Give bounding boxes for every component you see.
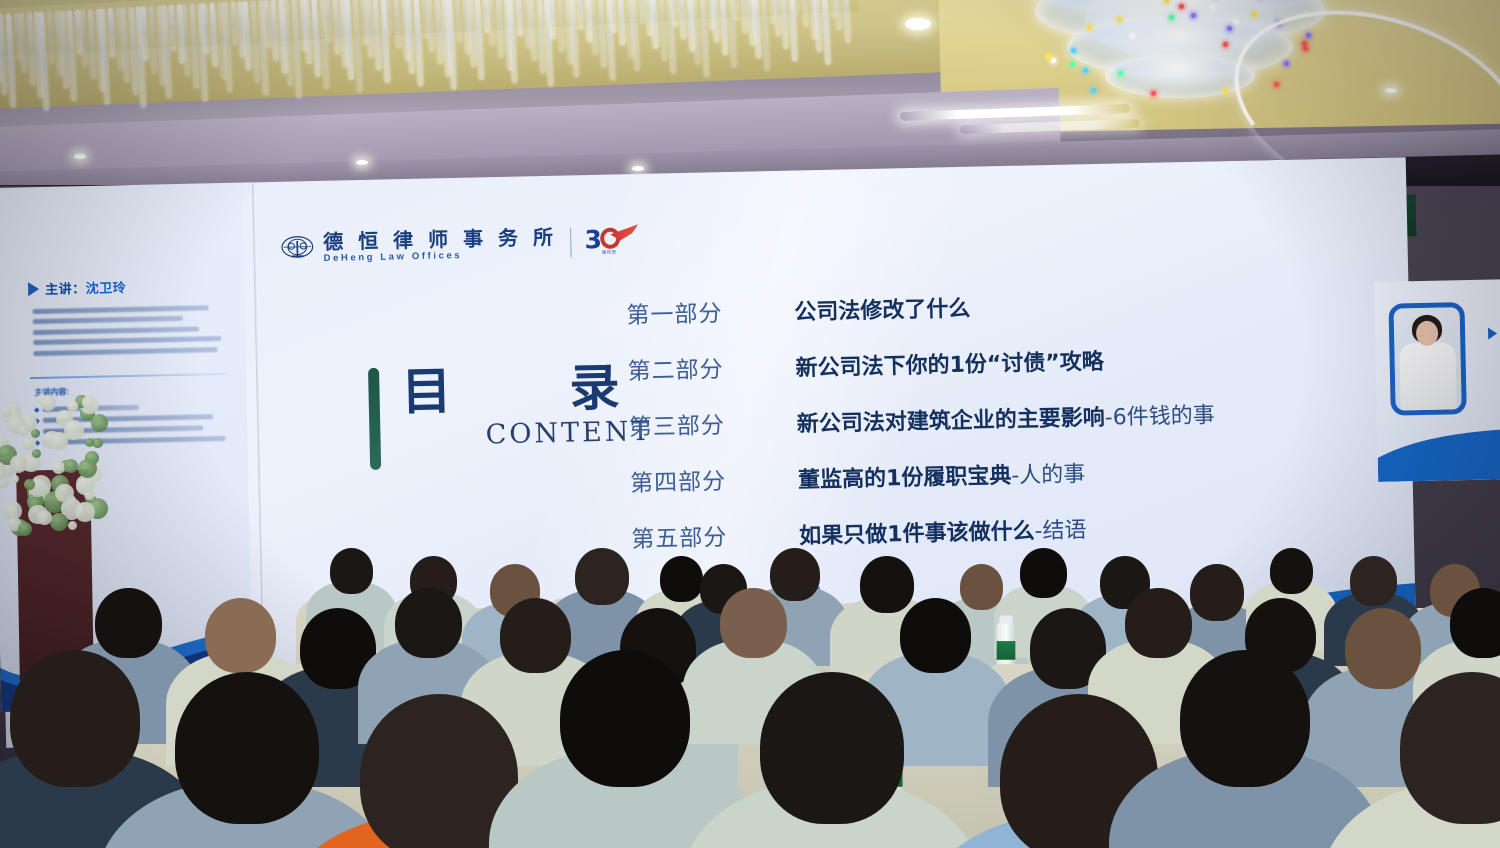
toc-title: 如果只做1件事该做什么-结语: [799, 512, 1087, 550]
heading-en: CONTENT: [402, 416, 655, 452]
flower-blossom: [91, 414, 108, 431]
chandelier-sparkle: [1169, 15, 1174, 20]
anniversary-number: 3: [584, 227, 602, 252]
speaker-heading: 主讲：沈卫玲: [28, 277, 126, 298]
flower-arrangement: [0, 392, 108, 542]
anniversary-subtext: 周年庆: [602, 250, 617, 256]
chandelier-sparkle: [1083, 68, 1088, 73]
flower-blossom: [18, 425, 29, 436]
toc-title: 董监高的1份履职宝典-人的事: [798, 456, 1086, 494]
chandelier-sparkle: [1051, 58, 1056, 63]
toc-title-tail: -结语: [1034, 518, 1086, 544]
toc-title-main: 如果只做1件事该做什么: [799, 519, 1035, 549]
toc-part-label: 第五部分: [631, 516, 800, 554]
chandelier-ring-4: [1105, 54, 1255, 98]
slide-wave-graphic-right: [1205, 583, 1417, 678]
speaker-bio-text: [32, 299, 223, 361]
flower-blossom: [40, 395, 56, 411]
heading-cn: 目 录: [401, 362, 654, 417]
slide-wave-graphic: [199, 551, 826, 748]
chandelier-sparkle: [1118, 71, 1123, 76]
toc-part-label: 第三部分: [628, 404, 797, 442]
flower-blossom: [18, 522, 32, 536]
chandelier-sparkle: [1070, 62, 1075, 67]
ceiling: [0, 0, 1500, 185]
logo-text-cn: 德 恒 律 师 事 务 所: [323, 227, 557, 253]
bio-text-line: [33, 326, 199, 335]
table-of-contents: 第一部分公司法修改了什么第二部分新公司法下你的1份“讨债”攻略第三部分新公司法对…: [626, 279, 1392, 576]
stage-skirt-green: [770, 611, 831, 642]
flower-blossom: [31, 429, 40, 438]
triangle-right-icon: [1488, 327, 1497, 339]
ceiling-downlight-5: [1385, 88, 1397, 93]
conference-photo-scene: 德 恒 律 师 事 务 所 DeHeng Law Offices 3 周年庆 目…: [0, 0, 1500, 848]
flower-blossom: [37, 510, 52, 525]
toc-title-tail: -人的事: [1011, 462, 1085, 489]
toc-title-main: 董监高的1份履职宝典: [798, 464, 1012, 494]
speaker-photo-board: [1374, 279, 1500, 482]
speaker-title-text: 主讲：沈卫玲: [45, 277, 126, 298]
slide-heading: 目 录 CONTENT: [368, 362, 655, 470]
ceiling-downlight-3: [632, 166, 644, 171]
toc-title: 新公司法对建筑企业的主要影响-6件钱的事: [796, 397, 1215, 438]
toc-title-tail: -6件钱的事: [1105, 403, 1215, 430]
toc-title-main: 公司法修改了什么: [794, 296, 971, 325]
flower-blossom: [64, 459, 78, 473]
bio-text-line: [33, 347, 217, 356]
chandelier-sparkle: [1046, 54, 1051, 59]
portrait-body: [1399, 342, 1457, 415]
toc-part-label: 第一部分: [626, 292, 795, 330]
chandelier-sparkle: [1223, 42, 1228, 47]
stage-skirt-red: [770, 639, 834, 664]
toc-title: 新公司法下你的1份“讨债”攻略: [795, 344, 1104, 383]
bio-text-line: [33, 316, 183, 324]
right-board-wave: [1377, 429, 1500, 482]
deheng-emblem-icon: [280, 233, 315, 264]
avatar: [1388, 302, 1466, 416]
bio-text-line: [33, 336, 221, 345]
flower-blossom: [82, 396, 94, 408]
ceiling-downlight-2: [356, 160, 368, 165]
speaker-name: 沈卫玲: [85, 280, 126, 296]
anniversary-badge: 3 周年庆: [584, 224, 641, 259]
speaker-label: 主讲：: [45, 281, 86, 297]
flower-blossom: [10, 455, 27, 472]
flower-blossom: [32, 449, 41, 458]
flower-blossom: [78, 459, 97, 478]
toc-title-main: 新公司法对建筑企业的主要影响: [797, 406, 1105, 438]
flower-blossom: [50, 513, 68, 531]
chandelier-sparkle: [1151, 91, 1156, 96]
chandelier-sparkle: [1227, 26, 1232, 31]
heading-accent-bar: [368, 368, 381, 470]
chandelier-sparkle: [1087, 25, 1092, 30]
flower-blossom: [50, 432, 68, 450]
ceiling-downlight-1: [74, 154, 86, 159]
triangle-right-icon: [28, 281, 39, 295]
speaker-divider: [30, 373, 228, 379]
flower-blossom: [68, 521, 77, 530]
chandelier-sparkle: [1091, 88, 1096, 93]
toc-title: 公司法修改了什么: [794, 290, 971, 326]
toc-part-label: 第二部分: [627, 348, 796, 386]
flower-blossom: [75, 502, 95, 522]
toc-title-main: 新公司法下你的1份“讨债”攻略: [795, 350, 1104, 382]
flower-blossom: [11, 475, 19, 483]
chandelier-sparkle: [1130, 33, 1135, 38]
ceiling-downlight-4: [905, 18, 931, 30]
flower-blossom: [67, 400, 78, 411]
bio-text-line: [33, 305, 209, 314]
toc-part-label: 第四部分: [630, 460, 799, 498]
logo-divider: [570, 228, 572, 258]
